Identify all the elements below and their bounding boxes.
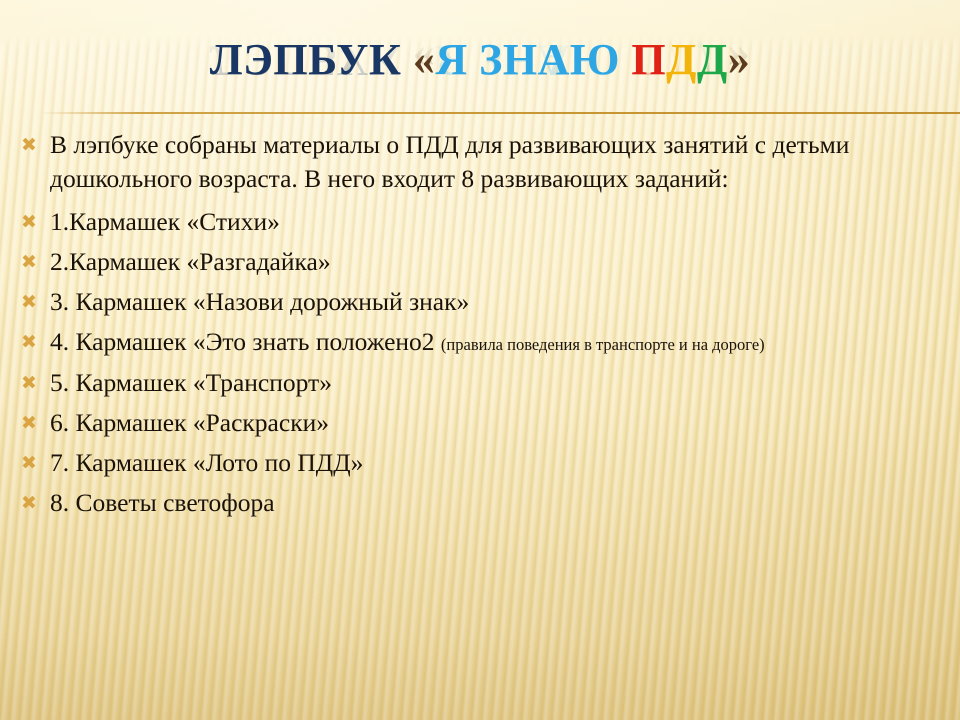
list-item-text: 3. Кармашек «Назови дорожный знак» [50,287,469,316]
list-item-text: 2.Кармашек «Разгадайка» [50,247,331,276]
bullet-cross-icon: ✖ [18,488,40,520]
title-segment-d-yellow: Д [666,35,697,84]
bullet-list: ✖ В лэпбуке собраны материалы о ПДД для … [14,128,946,520]
bullet-cross-icon: ✖ [18,408,40,440]
list-item-note: (правила поведения в транспорте и на дор… [441,335,765,354]
page-title: ЛЭПБУК «Я ЗНАЮ ПДД» ЛЭПБУК «Я ЗНАЮ ПДД» [210,34,750,86]
list-item: ✖ 5. Кармашек «Транспорт» [14,366,946,400]
bullet-cross-icon: ✖ [18,207,40,239]
list-item-text: 7. Кармашек «Лото по ПДД» [50,448,363,477]
list-item: ✖ 3. Кармашек «Назови дорожный знак» [14,285,946,319]
slide-body: ✖ В лэпбуке собраны материалы о ПДД для … [14,128,946,526]
presentation-slide: ЛЭПБУК «Я ЗНАЮ ПДД» ЛЭПБУК «Я ЗНАЮ ПДД» … [0,0,960,720]
bullet-cross-icon: ✖ [18,448,40,480]
bullet-cross-icon: ✖ [18,368,40,400]
list-item: ✖ 4. Кармашек «Это знать положено2 (прав… [14,325,946,360]
list-item: ✖ 6. Кармашек «Раскраски» [14,406,946,440]
bullet-cross-icon: ✖ [18,247,40,279]
bullet-cross-icon: ✖ [18,327,40,359]
title-divider-rule [0,112,960,114]
title-segment-quote-close: » [728,35,751,84]
list-item-text: 8. Советы светофора [50,488,275,517]
title-segment-ya-znayu: Я ЗНАЮ [435,35,631,84]
list-item-text: 1.Кармашек «Стихи» [50,207,280,236]
bullet-cross-icon: ✖ [18,287,40,319]
title-segment-p-red: П [631,35,666,84]
slide-title-area: ЛЭПБУК «Я ЗНАЮ ПДД» ЛЭПБУК «Я ЗНАЮ ПДД» [0,34,960,112]
list-item: ✖ В лэпбуке собраны материалы о ПДД для … [14,128,946,196]
list-item-text: В лэпбуке собраны материалы о ПДД для ра… [50,130,849,193]
list-item-text: 6. Кармашек «Раскраски» [50,408,329,437]
list-item-text: 5. Кармашек «Транспорт» [50,368,332,397]
title-segment-d-green: Д [697,35,728,84]
list-item: ✖ 2.Кармашек «Разгадайка» [14,245,946,279]
list-item: ✖ 8. Советы светофора [14,486,946,520]
list-item: ✖ 1.Кармашек «Стихи» [14,205,946,239]
list-item: ✖ 7. Кармашек «Лото по ПДД» [14,446,946,480]
bullet-cross-icon: ✖ [18,130,40,162]
list-item-text: 4. Кармашек «Это знать положено2 [50,327,441,356]
title-segment-quote-open: « [413,35,436,84]
title-segment-lapbook: ЛЭПБУК [210,35,413,84]
